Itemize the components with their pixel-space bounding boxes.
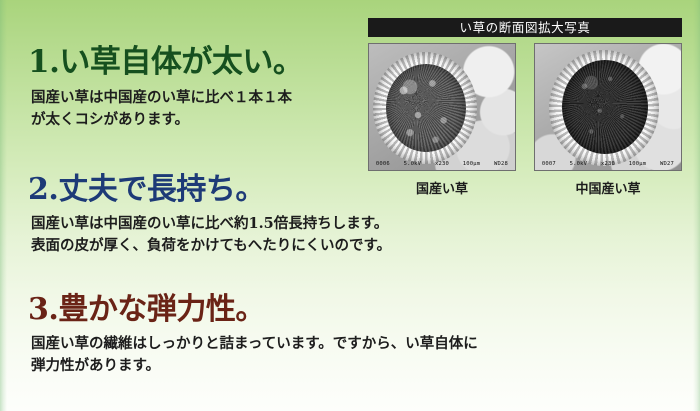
scan-overlay-domestic: 0006 5.0kV x230 100μm WD28 bbox=[369, 159, 515, 168]
photo-cell-chinese: 0007 5.0kV x230 100μm WD27 中国産い草 bbox=[534, 43, 682, 197]
benefit-1-heading: 1.い草自体が太い。 bbox=[0, 44, 372, 81]
scan-value: 100μm bbox=[629, 161, 647, 167]
benefit-2-heading: 2.丈夫で長持ち。 bbox=[0, 172, 372, 207]
benefit-1-body: 国産い草は中国産のい草に比べ１本１本 が太くコシがあります。 bbox=[0, 81, 372, 131]
micrograph-chinese-igusa bbox=[535, 44, 681, 170]
benefit-section-3: 3.豊かな弾力性。 国産い草の繊維はしっかりと詰まっています。ですから、い草自体… bbox=[0, 292, 372, 377]
photo-panel-header: い草の断面図拡大写真 bbox=[368, 18, 682, 37]
scan-value: 5.0kV bbox=[570, 161, 588, 167]
stem-inner-core bbox=[562, 60, 648, 154]
scan-overlay-chinese: 0007 5.0kV x230 100μm WD27 bbox=[535, 159, 681, 168]
stem-inner-core bbox=[386, 64, 466, 152]
scan-value: 5.0kV bbox=[404, 161, 422, 167]
stem-outer-ring bbox=[373, 52, 477, 164]
micrograph-domestic-igusa bbox=[369, 44, 515, 170]
right-edge-strip bbox=[693, 0, 700, 411]
scan-value: x230 bbox=[601, 161, 615, 167]
scan-value: 100μm bbox=[463, 161, 481, 167]
benefit-section-2: 2.丈夫で長持ち。 国産い草は中国産のい草に比べ約1.5倍長持ちします。 表面の… bbox=[0, 172, 372, 257]
photo-caption-chinese: 中国産い草 bbox=[534, 178, 682, 197]
infographic-root: 1.い草自体が太い。 国産い草は中国産のい草に比べ１本１本 が太くコシがあります… bbox=[0, 0, 700, 411]
cross-section-photo-panel: い草の断面図拡大写真 0006 5.0kV bbox=[368, 18, 682, 197]
benefit-2-body-line-2: 表面の皮が厚く、負荷をかけてもへたりにくいのです。 bbox=[31, 235, 372, 257]
benefit-1-body-line-2: が太くコシがあります。 bbox=[31, 109, 372, 131]
benefit-3-body-line-2: 弾力性があります。 bbox=[31, 355, 372, 377]
benefit-3-body-line-1: 国産い草の繊維はしっかりと詰まっています。ですから、い草自体に bbox=[31, 333, 372, 355]
scan-value: WD28 bbox=[494, 161, 508, 167]
benefit-section-1: 1.い草自体が太い。 国産い草は中国産のい草に比べ１本１本 が太くコシがあります… bbox=[0, 44, 372, 131]
photo-cell-domestic: 0006 5.0kV x230 100μm WD28 国産い草 bbox=[368, 43, 516, 197]
benefit-2-body-line-1: 国産い草は中国産のい草に比べ約1.5倍長持ちします。 bbox=[31, 213, 372, 235]
stem-outer-ring bbox=[549, 50, 659, 166]
scan-value: WD27 bbox=[660, 161, 674, 167]
photo-frame-domestic: 0006 5.0kV x230 100μm WD28 bbox=[368, 43, 516, 171]
photo-frame-chinese: 0007 5.0kV x230 100μm WD27 bbox=[534, 43, 682, 171]
benefit-2-body: 国産い草は中国産のい草に比べ約1.5倍長持ちします。 表面の皮が厚く、負荷をかけ… bbox=[0, 207, 372, 257]
core-speckle-texture bbox=[562, 60, 648, 154]
scan-value: x230 bbox=[435, 161, 449, 167]
benefit-1-body-line-1: 国産い草は中国産のい草に比べ１本１本 bbox=[31, 87, 372, 109]
benefits-text-column: 1.い草自体が太い。 国産い草は中国産のい草に比べ１本１本 が太くコシがあります… bbox=[0, 0, 372, 411]
photo-caption-domestic: 国産い草 bbox=[368, 178, 516, 197]
scan-value: 0007 bbox=[542, 161, 556, 167]
benefit-3-body: 国産い草の繊維はしっかりと詰まっています。ですから、い草自体に 弾力性があります… bbox=[0, 327, 372, 377]
core-speckle-texture bbox=[386, 64, 466, 152]
photo-row: 0006 5.0kV x230 100μm WD28 国産い草 bbox=[368, 43, 682, 197]
scan-value: 0006 bbox=[376, 161, 390, 167]
benefit-3-heading: 3.豊かな弾力性。 bbox=[0, 292, 372, 327]
